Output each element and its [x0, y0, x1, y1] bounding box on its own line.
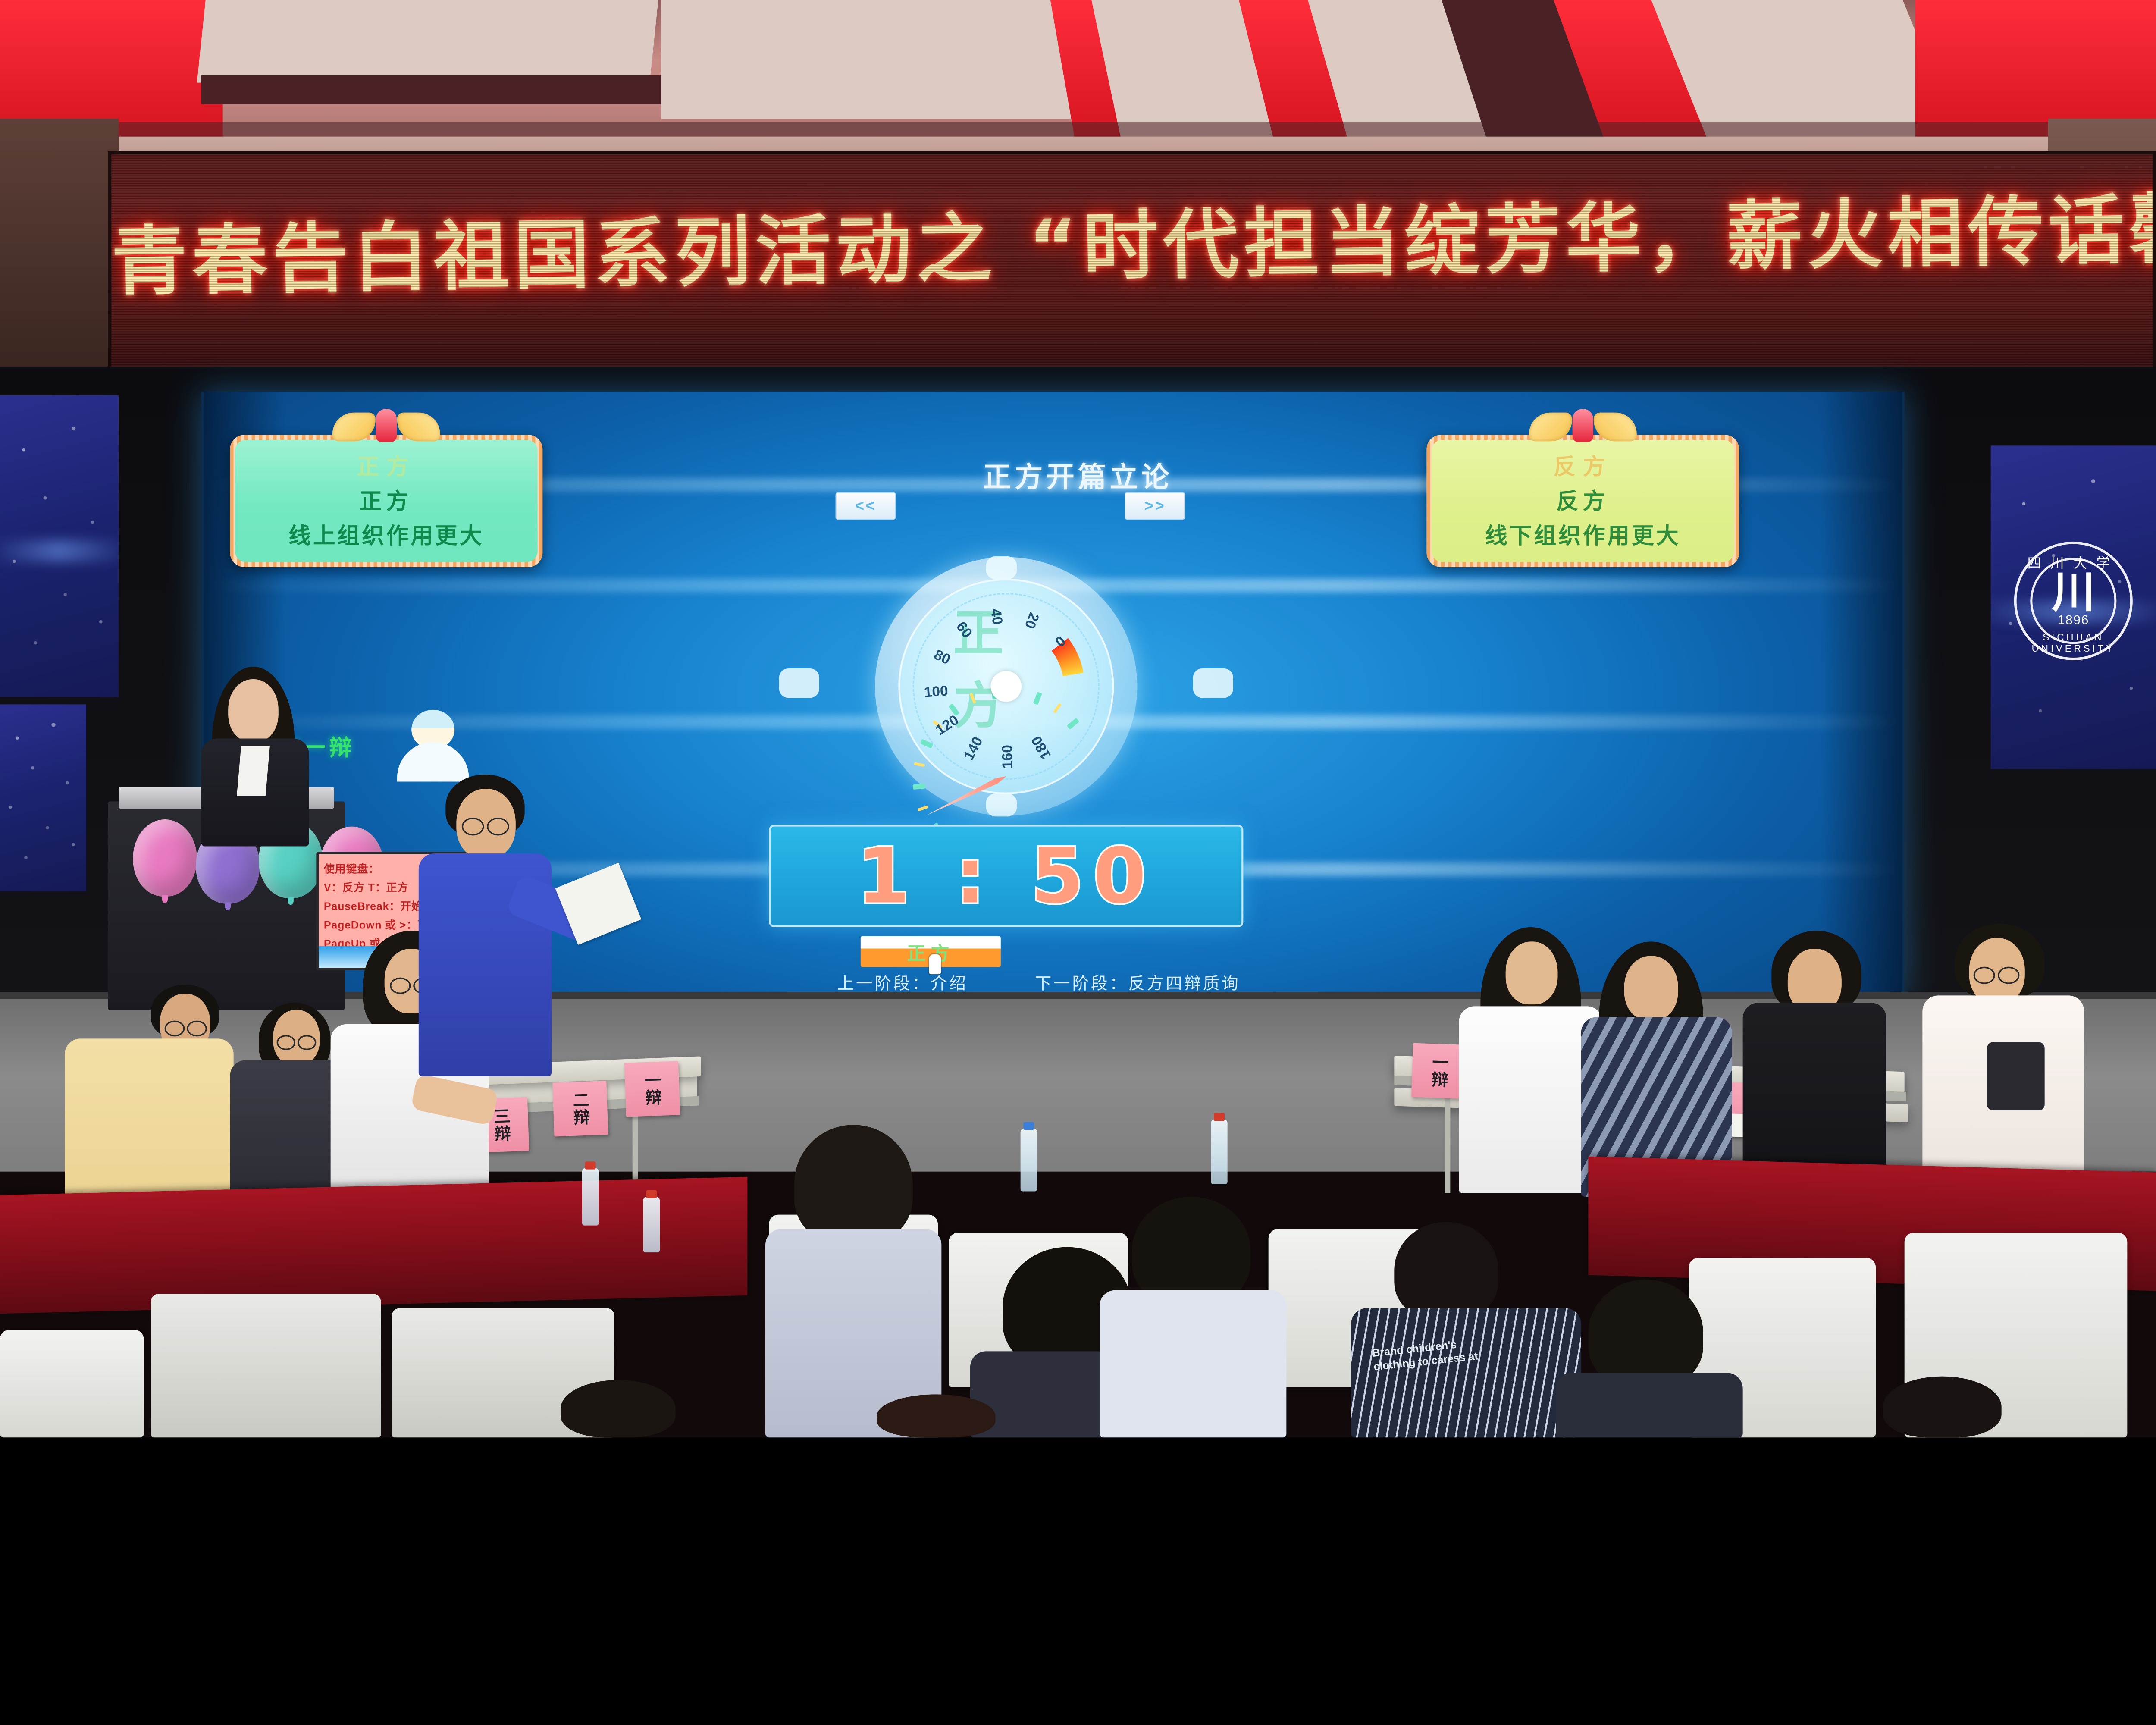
bow-wing-left [1529, 413, 1572, 442]
led-banner: 青春告白祖国系列活动之 “时代担当绽芳华，薪火相传话馨心”公益论坛 [108, 151, 2156, 374]
sichuan-university-seal-icon: 四川大学 川 1896 SICHUAN UNIVERSITY [2014, 542, 2133, 660]
head [1624, 956, 1678, 1021]
placard-negative: 反方 反方 线下组织作用更大 [1426, 435, 1739, 567]
audience-chair [151, 1294, 381, 1437]
namecard-left-1: 一辩 [624, 1061, 680, 1117]
placard-affirmative: 正方 正方 线上组织作用更大 [230, 435, 542, 567]
hair [1132, 1197, 1250, 1305]
next-stage-hint: 下一阶段：反方四辩质询 [1035, 970, 1241, 994]
placard-frame-negative: 反方 反方 线下组织作用更大 [1426, 435, 1739, 567]
placard-ghost-label-affirmative: 正方 [357, 448, 416, 481]
head [1506, 941, 1558, 1004]
glasses-icon [165, 1021, 185, 1037]
gauge-dial: 正方 020406080100120140160180 [898, 579, 1114, 794]
bow-knot [376, 409, 397, 442]
gauge-lug-right [1193, 668, 1233, 698]
collar [237, 746, 270, 796]
ceiling-panel-b [661, 0, 1071, 119]
led-scanlines [111, 154, 2152, 370]
glasses-icon [390, 978, 411, 994]
hair [1883, 1377, 2002, 1438]
glasses-icon [187, 1021, 207, 1037]
seal-year: 1896 [2058, 612, 2089, 627]
seal-en-text: SICHUAN UNIVERSITY [2017, 632, 2130, 654]
ceiling-shadow-a [201, 75, 668, 104]
shirt-graphic [1987, 1042, 2044, 1110]
table-leg [1445, 1092, 1450, 1193]
hair [1394, 1222, 1498, 1319]
glasses-icon [298, 1035, 316, 1050]
glasses-icon [277, 1035, 295, 1050]
gauge-tick-label: 40 [987, 608, 1006, 626]
water-bottle-3 [1021, 1129, 1037, 1192]
bottle-cap-2 [646, 1190, 657, 1198]
bow-wing-right [397, 413, 440, 442]
previous-stage-hint: 上一阶段：介绍 [837, 970, 968, 994]
side-banner-left [0, 395, 119, 697]
namecard-left-2: 二辩 [552, 1081, 608, 1136]
speaker-avatar-icon [394, 710, 473, 782]
torso [1556, 1373, 1742, 1437]
hair [1588, 1280, 1703, 1387]
head [228, 679, 279, 742]
balloon-pink-1 [133, 819, 197, 897]
placard-face-affirmative: 正方 正方 线上组织作用更大 [235, 440, 538, 562]
gauge-tick-label: 100 [923, 683, 948, 701]
audience-chair [0, 1330, 144, 1437]
ribbon-bow-icon [1529, 409, 1637, 448]
bow-knot [1573, 409, 1593, 442]
side-banner-left-lower [0, 704, 86, 891]
ribbon-bow-icon [332, 409, 440, 448]
debate-hall-scene: 青春告白祖国系列活动之 “时代担当绽芳华，薪火相传话馨心”公益论坛 四川大学 川… [0, 0, 2156, 1437]
torso [1100, 1290, 1286, 1438]
ceiling-panel-a [197, 0, 658, 83]
shirt-slogan: Brand children's clothing to caress at [1372, 1334, 1492, 1374]
light-streak-left [0, 540, 119, 562]
placard-side-label-affirmative: 正方 [360, 483, 413, 515]
glasses-icon [1974, 967, 1995, 984]
bottle-cap-3 [1023, 1122, 1034, 1130]
glasses-icon [462, 818, 484, 836]
placard-motion-negative: 线下组织作用更大 [1485, 517, 1680, 550]
placard-face-negative: 反方 反方 线下组织作用更大 [1432, 440, 1734, 562]
hair [877, 1394, 995, 1437]
glasses-icon [1998, 967, 2019, 984]
red-drape-left [0, 1177, 747, 1314]
water-bottle-4 [1211, 1120, 1227, 1184]
placard-side-label-negative: 反方 [1556, 483, 1609, 515]
placard-frame-affirmative: 正方 正方 线上组织作用更大 [230, 435, 542, 567]
torso-striped: Brand children's clothing to caress at [1351, 1308, 1581, 1437]
starfield-left-lower [0, 704, 86, 891]
side-banner-right: 四川大学 川 1896 SICHUAN UNIVERSITY [1991, 445, 2156, 769]
avatar-body [397, 742, 469, 782]
bow-wing-right [1594, 413, 1637, 442]
wall-left [0, 119, 119, 370]
water-bottle-2 [643, 1197, 660, 1252]
debate-stage-title: 正方开篇立论 [983, 455, 1173, 495]
hair [794, 1125, 913, 1243]
seal-cn-text: 四川大学 [2017, 552, 2130, 572]
countdown-timer-value: 1 : 50 [857, 831, 1155, 920]
prev-stage-button[interactable]: << [836, 492, 896, 520]
gauge-tick-label: 160 [999, 745, 1016, 769]
bottle-cap-4 [1214, 1113, 1225, 1121]
seal-glyph-icon: 川 [2052, 574, 2095, 611]
countdown-timer-panel: 1 : 50 [769, 825, 1243, 928]
placard-ghost-label-negative: 反方 [1553, 448, 1612, 481]
glasses-icon [487, 818, 509, 836]
debate-gauge: 正方 020406080100120140160180 [751, 550, 1261, 823]
gauge-lug-left [779, 668, 819, 698]
bow-wing-left [332, 413, 376, 442]
placard-motion-affirmative: 线上组织作用更大 [288, 517, 484, 550]
water-bottle-1 [582, 1168, 599, 1225]
gauge-lug-top [986, 556, 1017, 579]
gauge-hub [991, 671, 1022, 702]
hair [561, 1380, 676, 1437]
bottle-cap-1 [585, 1161, 596, 1169]
ceiling [0, 0, 2156, 151]
next-stage-button[interactable]: >> [1125, 492, 1185, 520]
gauge-watermark: 正方 [953, 593, 1059, 738]
